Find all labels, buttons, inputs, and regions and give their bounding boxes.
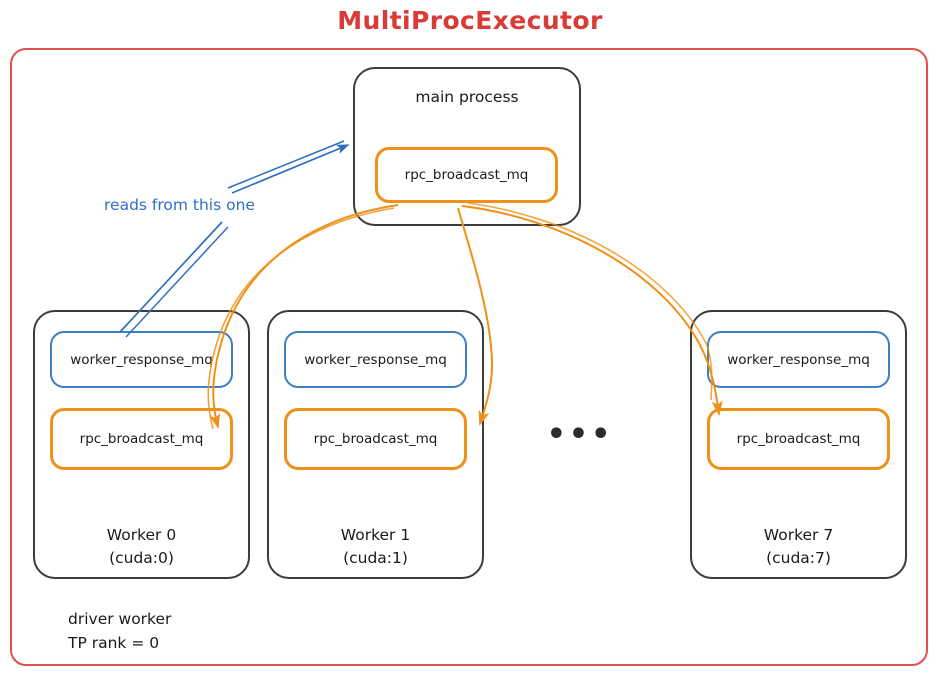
- worker-0-rpc-broadcast-mq-label: rpc_broadcast_mq: [80, 431, 204, 447]
- main-process-label: main process: [353, 88, 581, 106]
- diagram-canvas: MultiProcExecutor main process rpc_broad…: [0, 0, 940, 680]
- worker-7-response-mq-label: worker_response_mq: [727, 352, 870, 368]
- worker-0-caption: Worker 0 (cuda:0): [33, 524, 250, 570]
- worker-7-name: Worker 7: [690, 524, 907, 547]
- main-process-rpc-broadcast-mq: rpc_broadcast_mq: [375, 147, 558, 203]
- worker-0-name: Worker 0: [33, 524, 250, 547]
- worker-7-response-mq: worker_response_mq: [707, 331, 890, 388]
- worker-7-rpc-broadcast-mq-label: rpc_broadcast_mq: [737, 431, 861, 447]
- workers-ellipsis: •••: [545, 420, 615, 450]
- worker-0-response-mq: worker_response_mq: [50, 331, 233, 388]
- worker-1-response-mq-label: worker_response_mq: [304, 352, 447, 368]
- driver-worker-note: driver worker TP rank = 0: [68, 607, 171, 655]
- worker-1-rpc-broadcast-mq: rpc_broadcast_mq: [284, 408, 467, 470]
- worker-7-caption: Worker 7 (cuda:7): [690, 524, 907, 570]
- worker-0-rpc-broadcast-mq: rpc_broadcast_mq: [50, 408, 233, 470]
- worker-1-name: Worker 1: [267, 524, 484, 547]
- worker-0-device: (cuda:0): [33, 547, 250, 570]
- page-title: MultiProcExecutor: [0, 6, 940, 35]
- worker-0-response-mq-label: worker_response_mq: [70, 352, 213, 368]
- worker-1-device: (cuda:1): [267, 547, 484, 570]
- worker-7-rpc-broadcast-mq: rpc_broadcast_mq: [707, 408, 890, 470]
- main-rpc-broadcast-mq-label: rpc_broadcast_mq: [405, 167, 529, 183]
- worker-1-caption: Worker 1 (cuda:1): [267, 524, 484, 570]
- worker-1-rpc-broadcast-mq-label: rpc_broadcast_mq: [314, 431, 438, 447]
- worker-7-device: (cuda:7): [690, 547, 907, 570]
- reads-from-this-one-annotation: reads from this one: [104, 196, 255, 214]
- worker-1-response-mq: worker_response_mq: [284, 331, 467, 388]
